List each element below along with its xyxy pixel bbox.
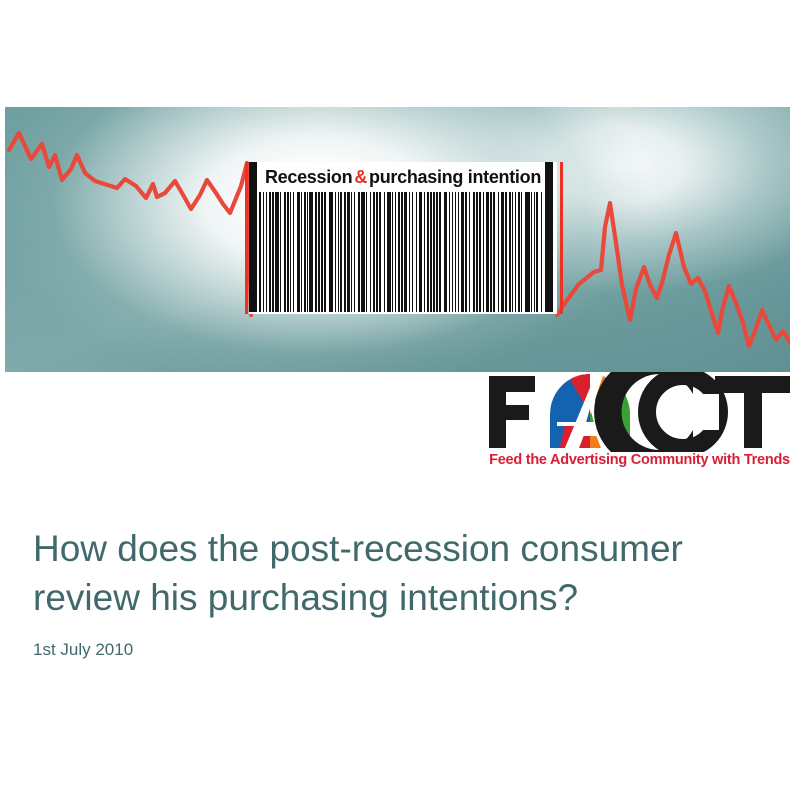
barcode-caption: Recession & purchasing intention — [249, 162, 557, 192]
barcode-bar — [301, 192, 302, 312]
barcode-bar — [430, 192, 431, 312]
barcode-bar — [321, 192, 323, 312]
barcode-bar — [521, 192, 522, 312]
barcode-bar — [505, 192, 506, 312]
barcode-bar — [458, 192, 459, 312]
barcode-bar — [469, 192, 470, 312]
barcode-bars — [259, 192, 543, 312]
barcode-bar — [409, 192, 411, 312]
barcode-bar — [401, 192, 402, 312]
header-banner-image: Recession & purchasing intention — [5, 107, 790, 372]
barcode-bar — [439, 192, 440, 312]
barcode-bar — [498, 192, 499, 312]
barcode-bar — [373, 192, 375, 312]
barcode-bar — [272, 192, 273, 312]
barcode-bar — [361, 192, 365, 312]
barcode-bar — [297, 192, 300, 312]
barcode-bar — [392, 192, 393, 312]
barcode-bar — [490, 192, 492, 312]
barcode-bar — [479, 192, 480, 312]
barcode-bar — [280, 192, 281, 312]
page-title: How does the post-recession consumer rev… — [33, 524, 763, 622]
barcode-bar — [525, 192, 529, 312]
barcode-bar — [266, 192, 267, 312]
barcode-bar — [344, 192, 345, 312]
barcode-bar — [512, 192, 513, 312]
barcode-bar — [461, 192, 465, 312]
title-block: How does the post-recession consumer rev… — [33, 524, 763, 660]
barcode-caption-ampersand: & — [352, 167, 369, 188]
barcode-bar — [449, 192, 450, 312]
barcode-bar — [284, 192, 285, 312]
barcode-bar — [541, 192, 542, 312]
barcode-bar — [290, 192, 291, 312]
barcode-bar — [404, 192, 407, 312]
barcode-bar — [304, 192, 306, 312]
barcode-bar — [419, 192, 423, 312]
barcode-bar — [501, 192, 505, 312]
fact-wordmark — [487, 372, 792, 452]
barcode-bar — [515, 192, 516, 312]
barcode-bar — [476, 192, 478, 312]
barcode-bar — [366, 192, 367, 312]
barcode-bar — [509, 192, 511, 312]
barcode-bar — [324, 192, 326, 312]
presentation-date: 1st July 2010 — [33, 640, 763, 660]
barcode-bar — [340, 192, 342, 312]
barcode-bar — [293, 192, 294, 312]
barcode-bar — [287, 192, 289, 312]
barcode-bar — [416, 192, 417, 312]
logo-tagline: Feed the Advertising Community with Tren… — [487, 452, 792, 468]
barcode-red-accent-line-left — [245, 162, 248, 314]
barcode-bar — [263, 192, 264, 312]
barcode-bar — [536, 192, 538, 312]
barcode-bar — [395, 192, 396, 312]
barcode-bar — [329, 192, 333, 312]
barcode-bar — [338, 192, 339, 312]
barcode-graphic: Recession & purchasing intention — [245, 162, 563, 314]
barcode-bar — [398, 192, 400, 312]
barcode-caption-suffix: purchasing intention — [369, 167, 541, 188]
barcode-bar — [534, 192, 535, 312]
barcode-bar — [379, 192, 381, 312]
barcode-bar — [275, 192, 279, 312]
barcode-bar — [351, 192, 352, 312]
barcode-bar — [318, 192, 319, 312]
barcode-red-accent-line-right — [560, 162, 563, 314]
barcode-bar — [354, 192, 355, 312]
barcode-bar — [347, 192, 350, 312]
barcode-bar — [259, 192, 261, 312]
logo-letter-c — [594, 372, 719, 452]
barcode-bar — [518, 192, 520, 312]
barcode-bar — [436, 192, 438, 312]
barcode-bar — [307, 192, 308, 312]
barcode-bar — [493, 192, 494, 312]
barcode-bar — [315, 192, 316, 312]
barcode-bar — [473, 192, 474, 312]
barcode-bar — [433, 192, 434, 312]
trend-line-path — [9, 133, 251, 315]
barcode-bar — [427, 192, 429, 312]
barcode-bar — [376, 192, 377, 312]
barcode-bar — [358, 192, 360, 312]
barcode-bar — [531, 192, 532, 312]
barcode-bar — [370, 192, 371, 312]
barcode-bar — [486, 192, 489, 312]
barcode-bar — [387, 192, 391, 312]
barcode-bar — [384, 192, 385, 312]
barcode-bar — [335, 192, 336, 312]
trend-line-path-right — [557, 203, 790, 346]
barcode-bar — [444, 192, 447, 312]
barcode-bar — [269, 192, 271, 312]
fact-logo: Feed the Advertising Community with Tren… — [487, 372, 792, 480]
logo-letter-f — [489, 376, 535, 448]
barcode-bar — [424, 192, 425, 312]
barcode-caption-prefix: Recession — [265, 167, 352, 188]
barcode-bar — [452, 192, 454, 312]
barcode-bar — [465, 192, 467, 312]
barcode-bar — [483, 192, 484, 312]
barcode-bar — [412, 192, 413, 312]
barcode-bar — [455, 192, 456, 312]
barcode-bar — [309, 192, 313, 312]
